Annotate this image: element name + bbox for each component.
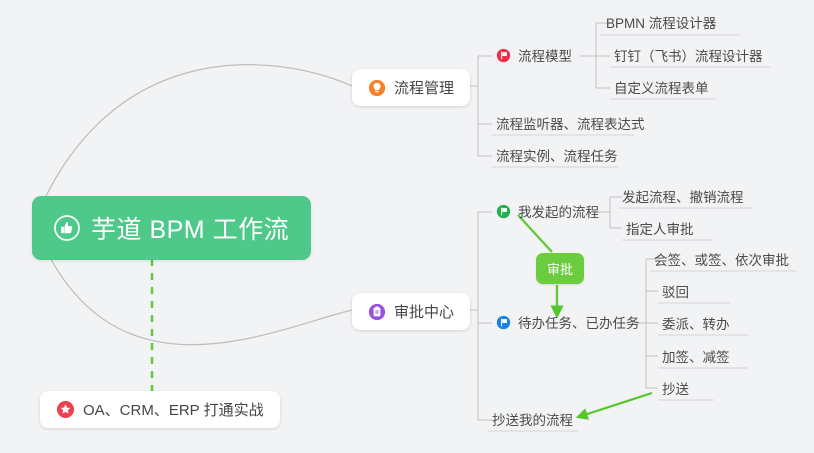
branch-approval-center-label: 审批中心 (394, 301, 454, 322)
approve-annotation-chip[interactable]: 审批 (536, 253, 584, 284)
branch-process-management-label: 流程管理 (394, 77, 454, 98)
node-delegate-transfer[interactable]: 委派、转办 (658, 311, 736, 338)
node-bpmn-designer[interactable]: BPMN 流程设计器 (602, 10, 722, 37)
node-bpmn-designer-label: BPMN 流程设计器 (606, 12, 716, 32)
callout-node[interactable]: OA、CRM、ERP 打通实战 (40, 391, 280, 428)
node-process-listener-label: 流程监听器、流程表达式 (496, 113, 645, 133)
branch-approval-center[interactable]: 审批中心 (352, 293, 470, 330)
node-cc-label: 抄送 (662, 378, 689, 398)
flag-icon (496, 204, 511, 219)
node-custom-form-label: 自定义流程表单 (614, 77, 709, 97)
node-process-instance[interactable]: 流程实例、流程任务 (492, 143, 624, 170)
node-todo-done-tasks[interactable]: 待办任务、已办任务 (492, 310, 646, 337)
root-label: 芋道 BPM 工作流 (91, 210, 289, 246)
thumbs-up-icon (54, 215, 80, 241)
node-process-model[interactable]: 流程模型 (492, 43, 578, 70)
lightbulb-icon (368, 79, 386, 97)
node-cc-to-me-process-label: 抄送我的流程 (492, 409, 573, 429)
node-cc[interactable]: 抄送 (658, 376, 695, 403)
node-start-cancel-process[interactable]: 发起流程、撤销流程 (618, 184, 750, 211)
node-reject-label: 驳回 (662, 281, 689, 301)
node-delegate-transfer-label: 委派、转办 (662, 313, 730, 333)
node-my-started-process[interactable]: 我发起的流程 (492, 199, 605, 226)
node-assignee-approve[interactable]: 指定人审批 (622, 216, 700, 243)
node-start-cancel-process-label: 发起流程、撤销流程 (622, 186, 744, 206)
node-dingtalk-designer[interactable]: 钉钉（飞书）流程设计器 (610, 43, 769, 70)
branch-process-management[interactable]: 流程管理 (352, 69, 470, 106)
link-root-to-process-management (36, 65, 352, 218)
node-todo-done-tasks-label: 待办任务、已办任务 (518, 312, 640, 332)
mindmap-canvas: 芋道 BPM 工作流 OA、CRM、ERP 打通实战 流程管理 (0, 0, 814, 453)
node-countersign-label: 会签、或签、依次审批 (654, 249, 789, 269)
node-process-instance-label: 流程实例、流程任务 (496, 145, 618, 165)
star-badge-icon (56, 400, 75, 419)
node-my-started-process-label: 我发起的流程 (518, 201, 599, 221)
node-process-listener[interactable]: 流程监听器、流程表达式 (492, 111, 651, 138)
node-add-remove-sign[interactable]: 加签、减签 (658, 344, 736, 371)
node-add-remove-sign-label: 加签、减签 (662, 346, 730, 366)
clipboard-icon (368, 303, 386, 321)
node-custom-form[interactable]: 自定义流程表单 (610, 75, 715, 102)
node-dingtalk-designer-label: 钉钉（飞书）流程设计器 (614, 45, 763, 65)
node-assignee-approve-label: 指定人审批 (626, 218, 694, 238)
root-node[interactable]: 芋道 BPM 工作流 (32, 196, 311, 260)
arrow-cc-to-cc-to-me (578, 393, 652, 417)
node-process-model-label: 流程模型 (518, 45, 572, 65)
node-cc-to-me-process[interactable]: 抄送我的流程 (488, 407, 579, 434)
callout-label: OA、CRM、ERP 打通实战 (83, 399, 264, 420)
node-reject[interactable]: 驳回 (658, 279, 695, 306)
approve-chip-label: 审批 (547, 259, 573, 278)
node-countersign[interactable]: 会签、或签、依次审批 (650, 247, 795, 274)
flag-icon (496, 48, 511, 63)
flag-icon (496, 315, 511, 330)
